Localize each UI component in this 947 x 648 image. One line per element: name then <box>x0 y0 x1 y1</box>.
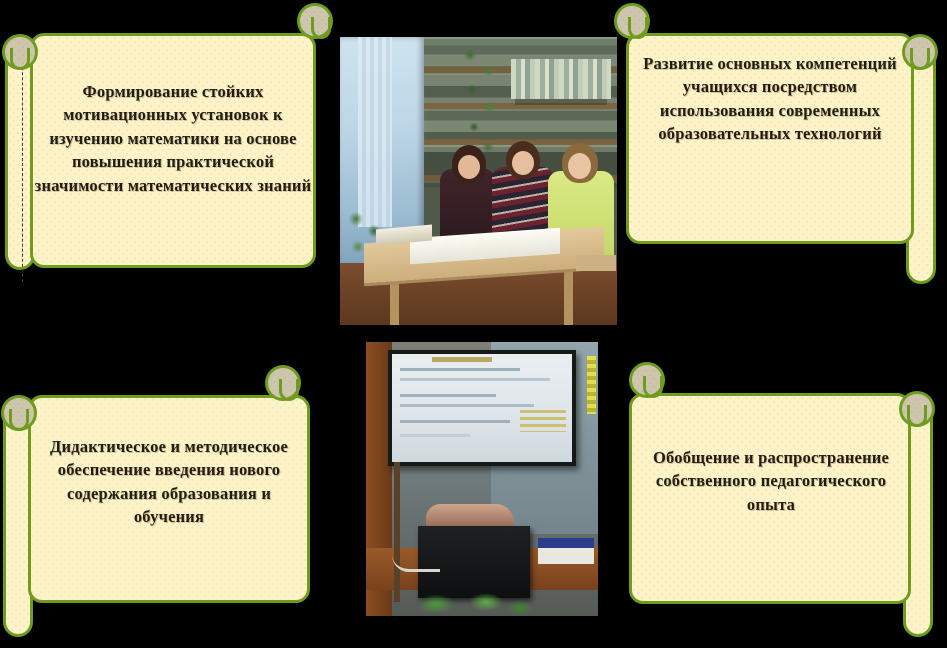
banner-obobshchenie[interactable]: Обобщение и распространение собственного… <box>615 360 947 648</box>
scroll-curl-top-right-icon <box>297 3 333 39</box>
banner-text: Развитие основных компетенций учащихся п… <box>634 52 906 146</box>
banner-text: Дидактическое и методическое обеспечение… <box>32 435 306 529</box>
photo-students-at-desk <box>340 37 617 325</box>
scroll-curl-top-right-icon <box>899 391 935 427</box>
cable <box>392 555 440 572</box>
screen-text-line <box>400 368 520 371</box>
desk-leg-right <box>564 265 573 325</box>
scroll-curl-top-left-icon <box>1 395 37 431</box>
banner-razvitie[interactable]: Развитие основных компетенций учащихся п… <box>610 0 947 300</box>
photo-projector-screen <box>366 342 598 616</box>
screen-text-line <box>400 434 470 437</box>
screen-header-bar <box>432 357 492 362</box>
screen-text-line <box>400 404 534 407</box>
scroll-curl-top-right-icon <box>265 365 301 401</box>
screen-side-tab <box>587 356 596 414</box>
slide-canvas: Формирование стойких мотивационных устан… <box>0 0 947 648</box>
banner-text: Формирование стойких мотивационных устан… <box>34 80 312 197</box>
books-row <box>511 59 611 99</box>
screen-text-line <box>400 394 496 397</box>
student-left-face <box>458 155 480 179</box>
scroll-curl-top-left-icon <box>614 3 650 39</box>
window-curtain <box>358 37 392 227</box>
scroll-curl-top-right-icon <box>902 34 938 70</box>
projection-screen <box>392 354 572 462</box>
stack-of-papers <box>538 538 594 564</box>
plant-foreground <box>410 582 540 616</box>
banner-text: Обобщение и распространение собственного… <box>637 446 905 516</box>
screen-pole <box>394 462 400 602</box>
student-middle-face <box>512 151 534 175</box>
projection-screen-frame <box>388 350 576 466</box>
scroll-curl-top-left-icon <box>629 362 665 398</box>
scroll-fold-line <box>22 42 23 282</box>
scroll-curl-top-left-icon <box>2 34 38 70</box>
screen-text-line <box>400 378 550 381</box>
screen-text-line <box>400 420 510 423</box>
banner-formirovanie[interactable]: Формирование стойких мотивационных устан… <box>0 0 340 300</box>
student-right-face <box>568 153 591 179</box>
screen-highlight-block <box>520 410 566 432</box>
banner-didakticheskoe[interactable]: Дидактическое и методическое обеспечение… <box>0 363 330 648</box>
